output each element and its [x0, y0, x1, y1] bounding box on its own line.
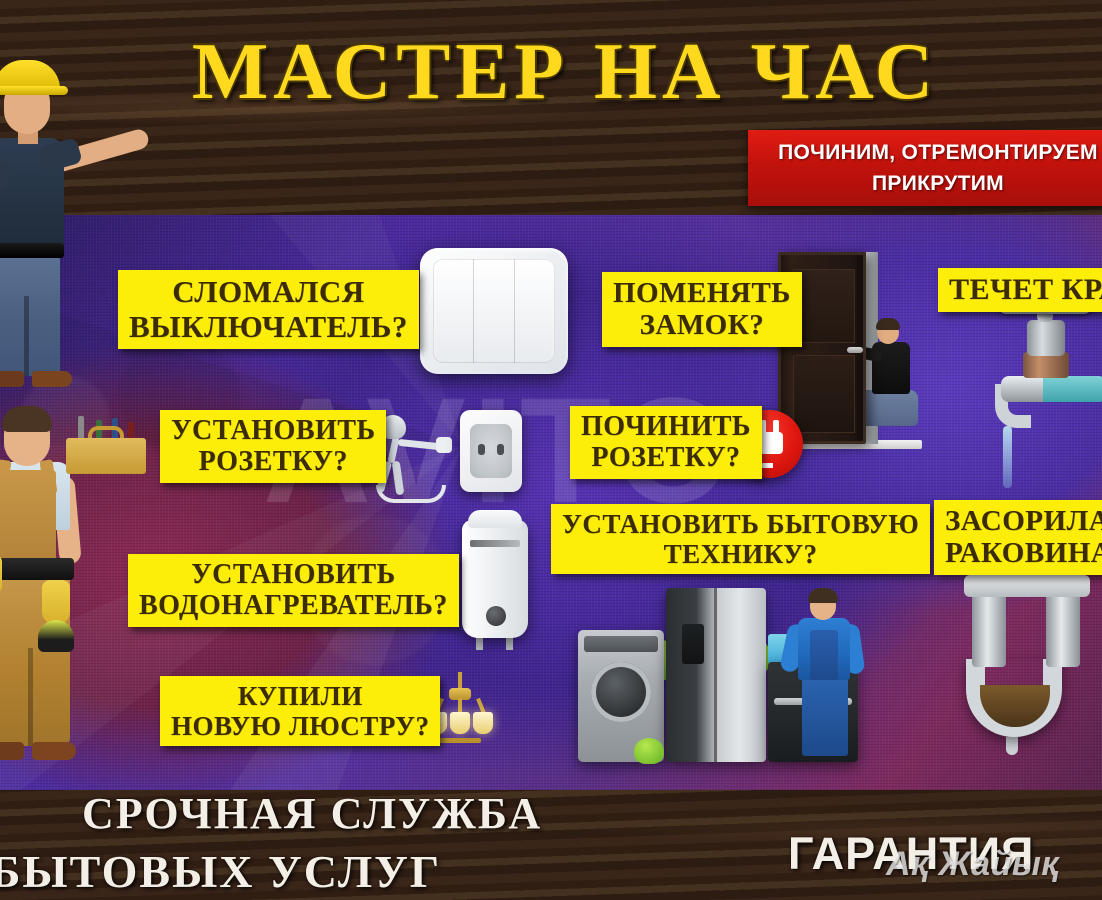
service-label-line1: УСТАНОВИТЬ: [171, 415, 375, 446]
socket-hole: [497, 444, 504, 455]
fridge-door-split: [714, 588, 717, 762]
siphon-downpipe: [972, 593, 1006, 667]
switch-key: [515, 259, 555, 363]
service-label-line2: ЗАМОК?: [613, 309, 791, 341]
service-label-lock: ПОМЕНЯТЬ ЗАМОК?: [602, 272, 802, 347]
service-label-line2: ВОДОНАГРЕВАТЕЛЬ?: [139, 590, 448, 621]
promo-banner: ПОЧИНИМ, ОТРЕМОНТИРУЕМ ПРИКРУТИМ: [748, 130, 1102, 206]
service-label-install-socket: УСТАНОВИТЬ РОЗЕТКУ?: [160, 410, 386, 483]
switch-key: [474, 259, 515, 363]
home-appliances-image: [578, 588, 858, 768]
toolbox-icon: [66, 416, 146, 474]
worker-left-shoe: [0, 371, 24, 387]
advertisement-poster: AVITO: [0, 0, 1102, 900]
promo-banner-line2: ПРИКРУТИМ: [748, 168, 1102, 199]
skeleton-cord: [376, 485, 446, 503]
promo-banner-line1: ПОЧИНИМ, ОТРЕМОНТИРУЕМ: [748, 137, 1102, 168]
installer-hair: [876, 318, 900, 330]
service-label-line1: ЗАСОРИЛАСЬ: [945, 505, 1102, 537]
page-title: МАСТЕР НА ЧАС: [150, 24, 980, 119]
guarantee-text: ГАРАНТИЯ: [788, 828, 1034, 880]
chandelier-shade: [450, 712, 470, 734]
service-label-line1: ПОМЕНЯТЬ: [613, 277, 791, 309]
footer-line2: БЫТОВЫХ УСЛУГ: [0, 845, 441, 898]
helmet-in-hand-icon: [38, 620, 74, 652]
socket-hole: [478, 444, 485, 455]
siphon-top-pipe: [964, 575, 1090, 597]
service-label-line2: РОЗЕТКУ?: [171, 446, 375, 477]
service-label-line1: КУПИЛИ: [238, 681, 363, 711]
service-label-water-heater: УСТАНОВИТЬ ВОДОНАГРЕВАТЕЛЬ?: [128, 554, 459, 627]
chandelier-base: [439, 738, 481, 743]
service-label-switch: СЛОМАЛСЯ ВЫКЛЮЧАТЕЛЬ?: [118, 270, 419, 349]
washer-control-panel: [584, 636, 658, 652]
siphon-drip: [1006, 737, 1018, 755]
water-heater-image: [462, 510, 528, 650]
clogged-siphon-image: [946, 575, 1102, 760]
heater-pipe: [476, 636, 483, 650]
skeleton-hand: [436, 437, 452, 453]
service-label-appliances: УСТАНОВИТЬ БЫТОВУЮ ТЕХНИКУ?: [551, 504, 930, 574]
service-label-line1: СЛОМАЛСЯ: [172, 274, 364, 309]
refrigerator-image: [666, 588, 766, 762]
service-label-line1: УСТАНОВИТЬ: [191, 559, 395, 590]
chandelier-shade: [473, 712, 493, 734]
service-label-line2: ВЫКЛЮЧАТЕЛЬ?: [129, 310, 408, 345]
fridge-dispenser: [682, 624, 704, 664]
service-label-sink: ЗАСОРИЛАСЬ РАКОВИНА?: [934, 500, 1102, 575]
service-label-line2: НОВУЮ ЛЮСТРУ?: [171, 711, 429, 741]
worker-belt: [0, 243, 64, 258]
toolbox-body: [66, 438, 146, 474]
wall-socket-image: [460, 410, 522, 492]
worker-right-shoe: [32, 371, 72, 387]
siphon-uppipe: [1046, 593, 1080, 667]
footer-line1: СРОЧНАЯ СЛУЖБА: [82, 788, 542, 839]
service-label-faucet: ТЕЧЕТ КРАН?: [938, 268, 1102, 312]
worker-leg-split: [24, 296, 29, 376]
faucet-teal-section: [1043, 376, 1102, 402]
switch-key: [433, 259, 474, 363]
door-panel: [793, 355, 855, 433]
service-label-fix-socket: ПОЧИНИТЬ РОЗЕТКУ?: [570, 406, 762, 479]
worker2-right-shoe: [32, 742, 76, 760]
service-label-line2: ТЕХНИКУ?: [562, 539, 919, 569]
plant-decoration: [634, 738, 664, 764]
faucet-stem: [1027, 320, 1065, 356]
service-label-line2: РАКОВИНА?: [945, 537, 1102, 569]
light-switch-keys: [433, 259, 555, 363]
service-label-line1: ПОЧИНИТЬ: [581, 411, 751, 442]
heater-pipe: [506, 636, 513, 650]
installer-legs: [862, 390, 918, 426]
worker2-pant-split: [28, 648, 33, 746]
heater-top: [468, 510, 522, 528]
worker-legs: [0, 256, 60, 376]
tool-belt: [0, 558, 74, 580]
service-label-line2: РОЗЕТКУ?: [581, 442, 751, 473]
socket-face: [470, 424, 512, 478]
faucet-image: [985, 300, 1102, 490]
light-switch-image: [420, 248, 568, 374]
technician-hair: [808, 588, 838, 603]
worker2-left-shoe: [0, 742, 24, 760]
door-panel: [793, 269, 855, 343]
technician-legs: [802, 678, 848, 756]
work-glove-icon: [42, 580, 70, 624]
service-label-line1: УСТАНОВИТЬ БЫТОВУЮ: [562, 509, 919, 539]
worker2-hair: [2, 406, 52, 432]
work-glove-left-icon: [0, 554, 2, 594]
overall-bib: [0, 470, 56, 562]
door-handle-icon: [847, 347, 863, 353]
skeleton-arm: [398, 439, 441, 450]
washer-door: [591, 662, 651, 722]
technician-overall-bib: [810, 630, 838, 680]
service-label-line1: ТЕЧЕТ КРАН?: [949, 273, 1102, 306]
heater-knob: [486, 606, 506, 626]
heater-display: [470, 540, 520, 547]
running-water: [1003, 426, 1012, 488]
hardhat-icon: [0, 60, 60, 94]
service-label-chandelier: КУПИЛИ НОВУЮ ЛЮСТРУ?: [160, 676, 440, 746]
